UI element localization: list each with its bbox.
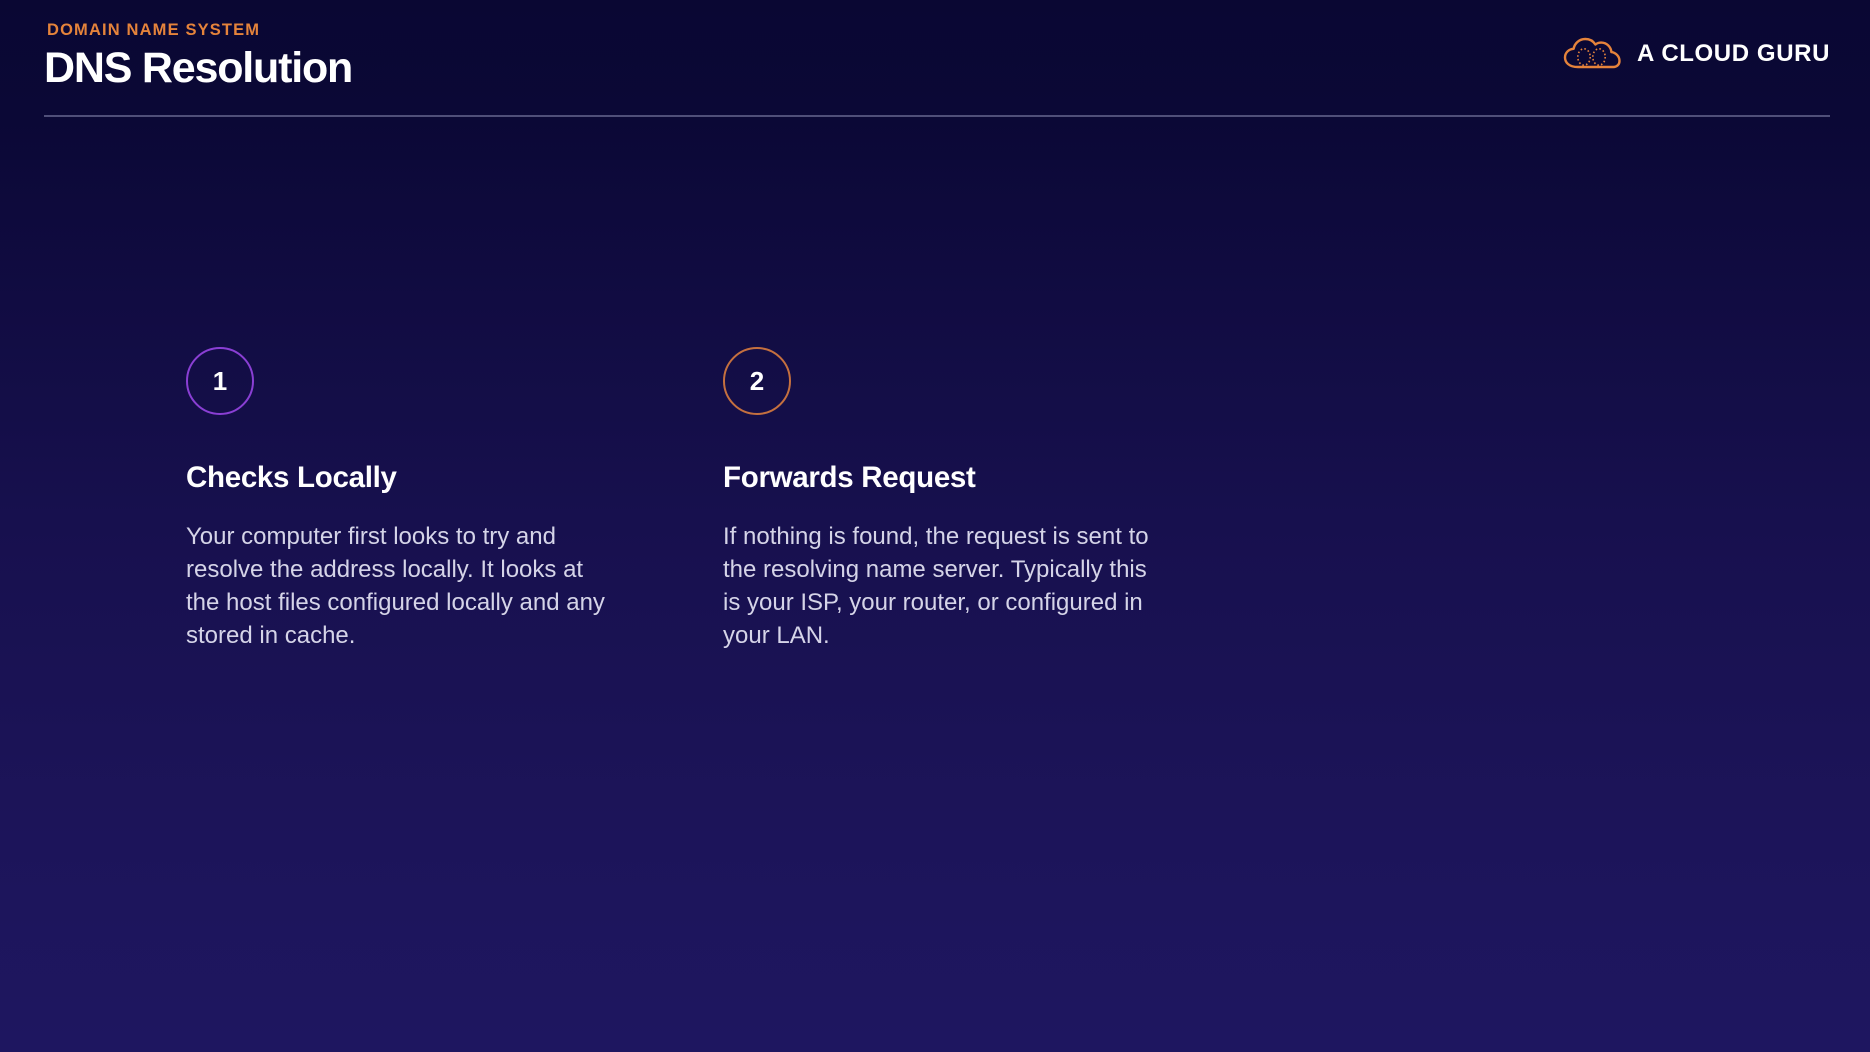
header-divider	[44, 115, 1830, 117]
step-number: 1	[213, 368, 227, 394]
step-number: 2	[750, 368, 764, 394]
step-title: Checks Locally	[186, 461, 616, 495]
step-title: Forwards Request	[723, 461, 1153, 495]
brand-logo: A CLOUD GURU	[1562, 33, 1830, 75]
slide-eyebrow: DOMAIN NAME SYSTEM	[47, 21, 260, 40]
brand-name: A CLOUD GURU	[1637, 40, 1830, 68]
step-item: 2 Forwards Request If nothing is found, …	[723, 347, 1260, 652]
step-body: If nothing is found, the request is sent…	[723, 520, 1153, 652]
step-item: 1 Checks Locally Your computer first loo…	[186, 347, 723, 652]
cloud-guru-logo-icon	[1562, 34, 1624, 74]
slide-root: DOMAIN NAME SYSTEM DNS Resolution A CLOU…	[0, 0, 1870, 1052]
slide-header: DOMAIN NAME SYSTEM DNS Resolution A CLOU…	[0, 0, 1870, 116]
step-number-badge: 2	[723, 347, 791, 415]
step-number-badge: 1	[186, 347, 254, 415]
page-title: DNS Resolution	[44, 44, 352, 93]
steps-list: 1 Checks Locally Your computer first loo…	[186, 347, 1260, 652]
step-body: Your computer first looks to try and res…	[186, 520, 616, 652]
